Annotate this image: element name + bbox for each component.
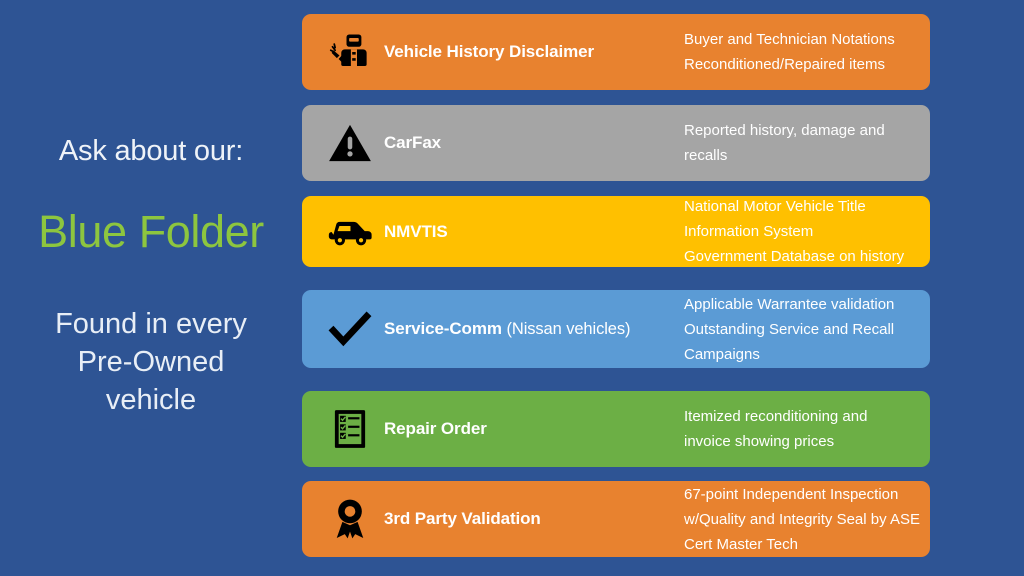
row-desc-line: invoice showing prices (684, 429, 918, 454)
slide-canvas: Ask about our: Blue Folder Found in ever… (0, 0, 1024, 576)
row-desc-line: Buyer and Technician Notations (684, 27, 918, 52)
row-title-main: CarFax (384, 133, 441, 152)
list-item[interactable]: Repair Order Itemized reconditioning and… (302, 391, 930, 467)
row-title-main: Service-Comm (384, 319, 502, 338)
list-item[interactable]: CarFax Reported history, damage and reca… (302, 105, 930, 181)
checklist-rows: Vehicle History Disclaimer Buyer and Tec… (302, 0, 1024, 576)
row-title: 3rd Party Validation (384, 509, 684, 529)
row-desc-line: Government Database on history (684, 244, 918, 269)
warning-triangle-icon (316, 123, 384, 163)
row-description: Applicable Warrantee validation Outstand… (684, 292, 930, 367)
found-in-every-block: Found in every Pre-Owned vehicle (0, 305, 302, 419)
found-line-3: vehicle (0, 381, 302, 419)
row-desc-line: recalls (684, 143, 918, 168)
row-desc-line: w/Quality and Integrity Seal by ASE (684, 507, 920, 532)
row-title: NMVTIS (384, 222, 684, 242)
row-description: 67-point Independent Inspection w/Qualit… (684, 482, 932, 557)
left-text-panel: Ask about our: Blue Folder Found in ever… (0, 0, 302, 576)
row-desc-line: Information System (684, 219, 918, 244)
row-desc-line: Cert Master Tech (684, 532, 920, 557)
found-line-2: Pre-Owned (0, 343, 302, 381)
list-item[interactable]: 3rd Party Validation 67-point Independen… (302, 481, 930, 557)
row-desc-line: Reported history, damage and (684, 118, 918, 143)
row-title: Vehicle History Disclaimer (384, 42, 684, 62)
car-icon (316, 216, 384, 248)
row-description: National Motor Vehicle Title Information… (684, 194, 930, 269)
row-title: CarFax (384, 133, 684, 153)
row-desc-line: Itemized reconditioning and (684, 404, 918, 429)
row-title-main: 3rd Party Validation (384, 509, 541, 528)
checklist-clipboard-icon (316, 408, 384, 450)
list-item[interactable]: Vehicle History Disclaimer Buyer and Tec… (302, 14, 930, 90)
row-desc-line: National Motor Vehicle Title (684, 194, 918, 219)
welder-technician-icon (316, 31, 384, 73)
row-desc-line: Reconditioned/Repaired items (684, 52, 918, 77)
page-title: Blue Folder (0, 206, 302, 258)
row-title: Repair Order (384, 419, 684, 439)
row-desc-line: 67-point Independent Inspection (684, 482, 920, 507)
row-desc-line: Applicable Warrantee validation (684, 292, 918, 317)
ask-about-label: Ask about our: (0, 135, 302, 168)
checkmark-icon (316, 310, 384, 348)
list-item[interactable]: Service-Comm (Nissan vehicles) Applicabl… (302, 290, 930, 368)
row-desc-line: Outstanding Service and Recall (684, 317, 918, 342)
row-title-main: Repair Order (384, 419, 487, 438)
row-description: Itemized reconditioning and invoice show… (684, 404, 930, 454)
found-line-1: Found in every (0, 305, 302, 343)
row-title-sub: (Nissan vehicles) (506, 320, 630, 338)
award-ribbon-icon (316, 497, 384, 541)
row-description: Reported history, damage and recalls (684, 118, 930, 168)
row-title: Service-Comm (Nissan vehicles) (384, 319, 684, 339)
row-title-main: Vehicle History Disclaimer (384, 42, 594, 61)
row-title-main: NMVTIS (384, 222, 448, 241)
row-desc-line: Campaigns (684, 342, 918, 367)
list-item[interactable]: NMVTIS National Motor Vehicle Title Info… (302, 196, 930, 267)
row-description: Buyer and Technician Notations Reconditi… (684, 27, 930, 77)
